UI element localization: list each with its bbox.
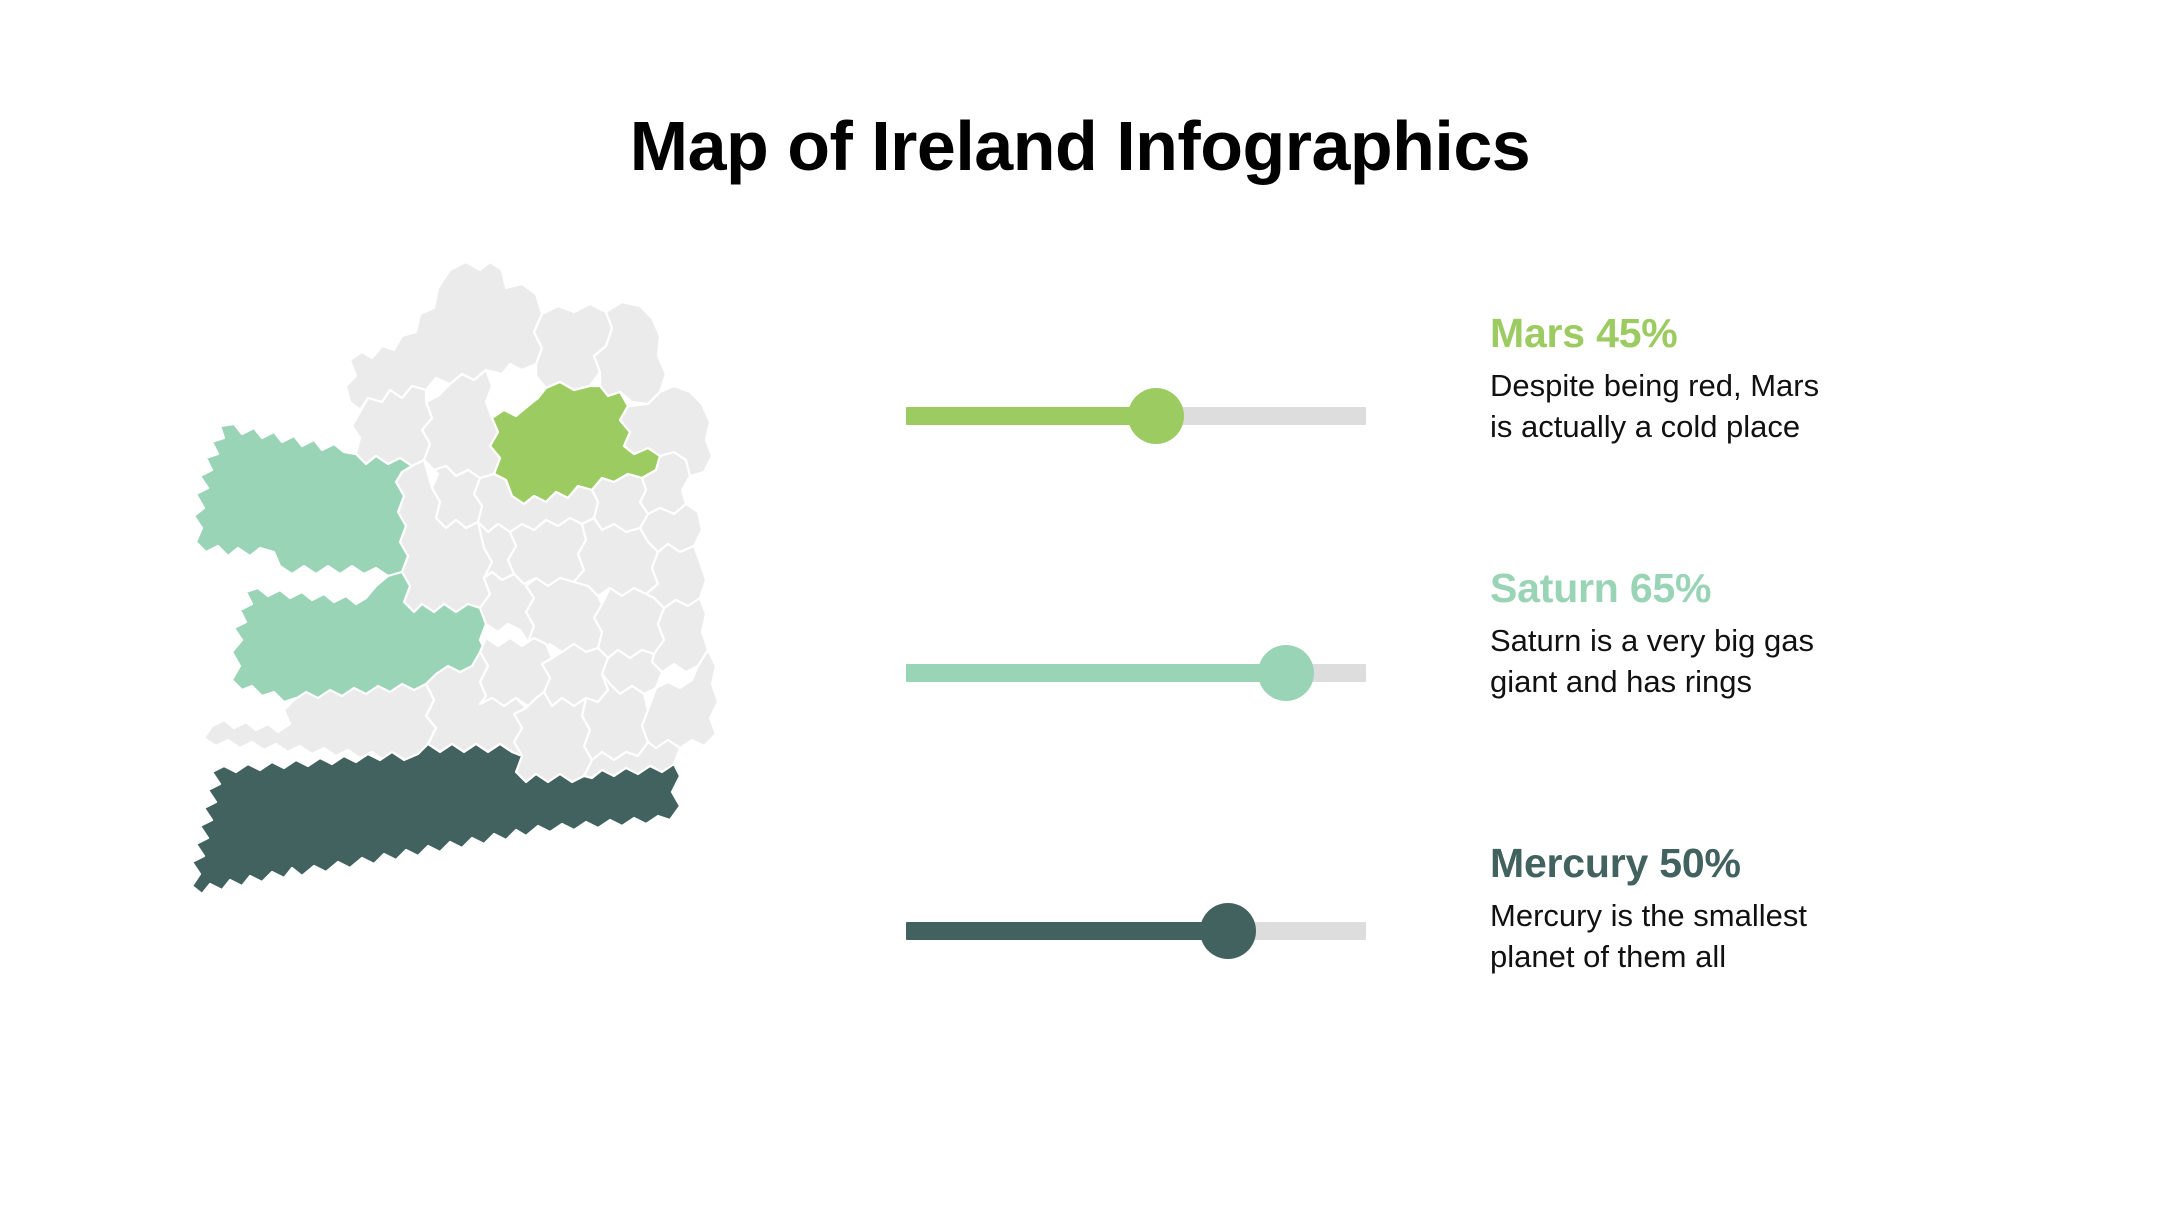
info-heading-saturn: Saturn 65% xyxy=(1490,565,1820,612)
map-county-kildare[interactable] xyxy=(594,588,664,658)
map-county-monaghan[interactable] xyxy=(592,474,648,532)
map-county-donegal[interactable] xyxy=(346,262,542,410)
info-body-mercury: Mercury is the smallest planet of them a… xyxy=(1490,895,1820,977)
info-body-mars: Despite being red, Mars is actually a co… xyxy=(1490,365,1820,447)
slider-track-fill-saturn xyxy=(906,664,1286,682)
info-block-mars: Mars 45% Despite being red, Mars is actu… xyxy=(1490,310,1820,448)
ireland-map xyxy=(150,240,870,1120)
slider-mars[interactable] xyxy=(906,388,1366,444)
slide-canvas: Map of Ireland Infographics xyxy=(0,0,2160,1215)
info-body-saturn: Saturn is a very big gas giant and has r… xyxy=(1490,620,1820,702)
map-county-fermanagh[interactable] xyxy=(422,370,500,478)
slider-group xyxy=(906,0,1366,1215)
info-block-mercury: Mercury 50% Mercury is the smallest plan… xyxy=(1490,840,1820,978)
ireland-map-svg xyxy=(150,240,870,1120)
map-county-kerry[interactable] xyxy=(204,684,436,762)
slider-knob-mars[interactable] xyxy=(1128,388,1184,444)
info-block-saturn: Saturn 65% Saturn is a very big gas gian… xyxy=(1490,565,1820,703)
map-county-westmeath[interactable] xyxy=(508,518,586,586)
slider-track-fill-mars xyxy=(906,407,1156,425)
slider-mercury[interactable] xyxy=(906,903,1366,959)
info-heading-mercury: Mercury 50% xyxy=(1490,840,1820,887)
map-county-laois[interactable] xyxy=(542,644,608,706)
slider-track-fill-mercury xyxy=(906,922,1228,940)
slider-knob-mercury[interactable] xyxy=(1200,903,1256,959)
slider-knob-saturn[interactable] xyxy=(1258,645,1314,701)
slider-saturn[interactable] xyxy=(906,645,1366,701)
info-heading-mars: Mars 45% xyxy=(1490,310,1820,357)
